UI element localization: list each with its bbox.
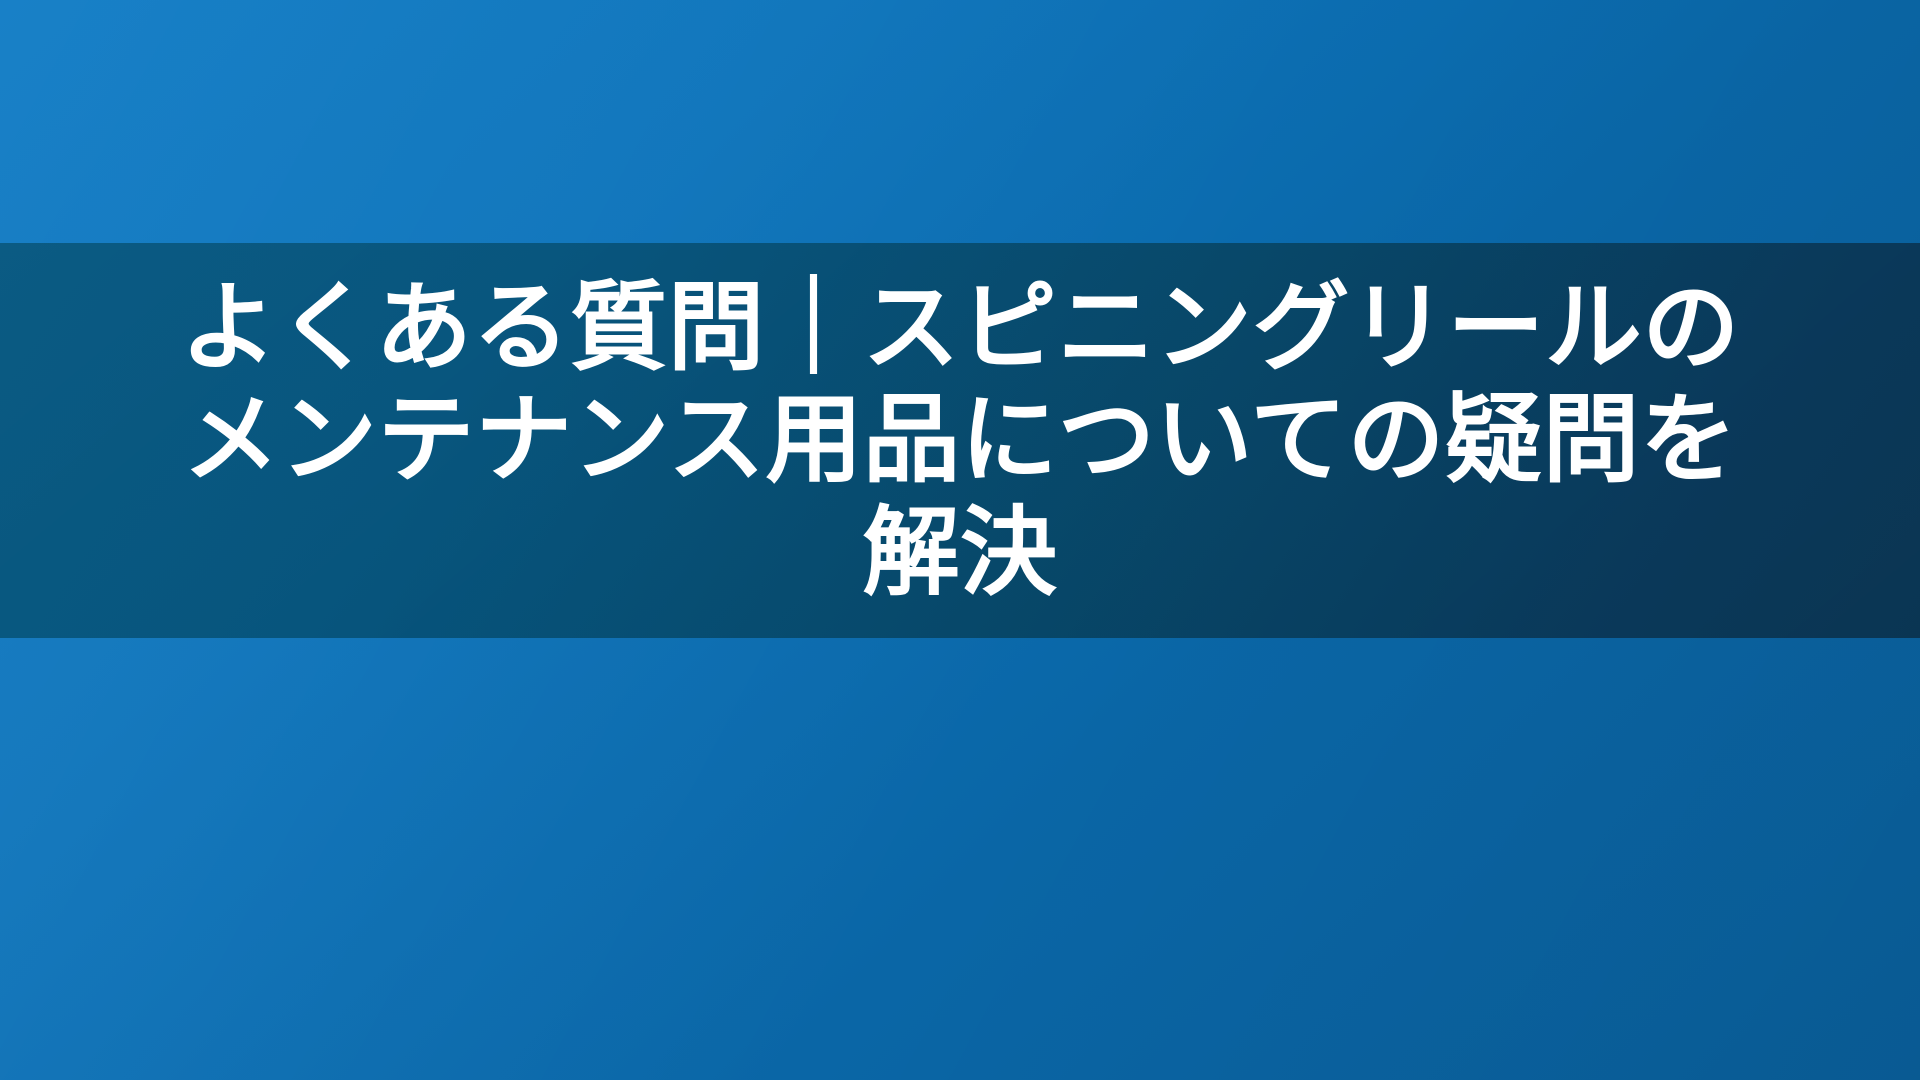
page-title: よくある質問｜スピニングリールの メンテナンス用品についての疑問を 解決 bbox=[170, 272, 1750, 610]
headline-band: よくある質問｜スピニングリールの メンテナンス用品についての疑問を 解決 bbox=[0, 243, 1920, 638]
faq-title-banner: よくある質問｜スピニングリールの メンテナンス用品についての疑問を 解決 bbox=[0, 0, 1920, 1080]
